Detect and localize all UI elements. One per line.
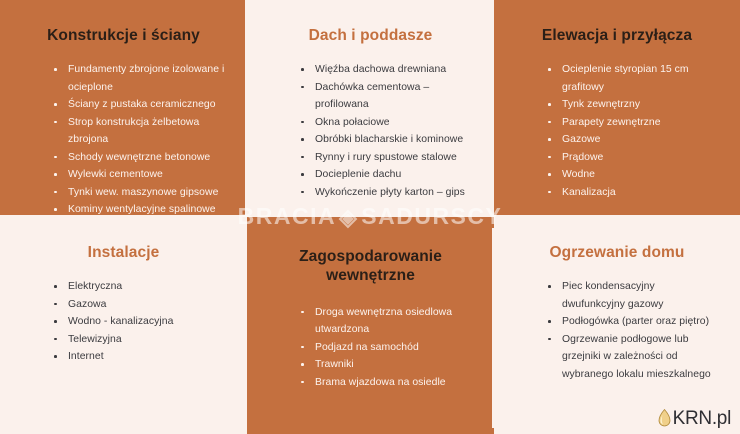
list-item: Telewizyjna xyxy=(52,331,225,348)
panel-title: Ogrzewanie domu xyxy=(516,217,718,262)
list-item: Wodne xyxy=(546,166,718,183)
list-item: Wykończenie płyty karton – gips xyxy=(299,184,472,201)
list-item: Rynny i rury spustowe stalowe xyxy=(299,149,472,166)
list-item: Podjazd na samochód xyxy=(299,339,472,356)
krn-logo[interactable]: KRN.pl xyxy=(658,409,731,428)
list-item: Gazowa xyxy=(52,296,225,313)
panel-seam xyxy=(245,228,247,428)
list-item: Gazowe xyxy=(546,131,718,148)
panel-title: Konstrukcje i ściany xyxy=(22,0,225,45)
list-item: Strop konstrukcja żelbetowa zbrojona xyxy=(52,114,225,149)
panel-title: Instalacje xyxy=(22,217,225,262)
panel-bullet-list: Fundamenty zbrojone izolowane i ocieplon… xyxy=(22,45,225,217)
list-item: Tynk zewnętrzny xyxy=(546,96,718,113)
list-item: Internet xyxy=(52,348,225,365)
drop-icon xyxy=(658,409,671,428)
panel-seam xyxy=(492,0,494,217)
panel-seam xyxy=(492,228,494,428)
list-item: Prądowe xyxy=(546,149,718,166)
list-item: Tynki wew. maszynowe gipsowe xyxy=(52,184,225,201)
panel-bullet-list: Elektryczna Gazowa Wodno - kanalizacyjna… xyxy=(22,262,225,365)
list-item: Brama wjazdowa na osiedle xyxy=(299,374,472,391)
panel-elewacja-i-przylacza: Elewacja i przyłącza Ocieplenie styropia… xyxy=(494,0,740,217)
panel-title: Zagospodarowanie wewnętrzne xyxy=(269,217,472,286)
panel-bullet-list: Ocieplenie styropian 15 cm grafitowy Tyn… xyxy=(516,45,718,201)
list-item: Podłogówka (parter oraz piętro) xyxy=(546,313,718,330)
panel-seam xyxy=(245,0,247,217)
list-item: Ocieplenie styropian 15 cm grafitowy xyxy=(546,61,718,96)
panel-dach-i-poddasze: Dach i poddasze Więźba dachowa drewniana… xyxy=(247,0,494,217)
panel-konstrukcje-i-sciany: Konstrukcje i ściany Fundamenty zbrojone… xyxy=(0,0,247,217)
panel-bullet-list: Piec kondensacyjny dwufunkcyjny gazowy P… xyxy=(516,262,718,383)
panel-instalacje: Instalacje Elektryczna Gazowa Wodno - ka… xyxy=(0,217,247,434)
list-item: Wodno - kanalizacyjna xyxy=(52,313,225,330)
panel-bullet-list: Więźba dachowa drewniana Dachówka cement… xyxy=(269,45,472,201)
list-item: Schody wewnętrzne betonowe xyxy=(52,149,225,166)
list-item: Elektryczna xyxy=(52,278,225,295)
list-item: Piec kondensacyjny dwufunkcyjny gazowy xyxy=(546,278,718,313)
list-item: Trawniki xyxy=(299,356,472,373)
krn-logo-text: KRN.pl xyxy=(673,409,731,428)
panel-seam xyxy=(0,215,247,218)
panel-title: Elewacja i przyłącza xyxy=(516,0,718,45)
list-item: Kanalizacja xyxy=(546,184,718,201)
list-item: Ściany z pustaka ceramicznego xyxy=(52,96,225,113)
list-item: Parapety zewnętrzne xyxy=(546,114,718,131)
list-item: Obróbki blacharskie i kominowe xyxy=(299,131,472,148)
list-item: Dachówka cementowa – profilowana xyxy=(299,79,472,114)
panel-title: Dach i poddasze xyxy=(269,0,472,45)
list-item: Fundamenty zbrojone izolowane i ocieplon… xyxy=(52,61,225,96)
panel-bullet-list: Droga wewnętrzna osiedlowa utwardzona Po… xyxy=(269,286,472,391)
list-item: Ogrzewanie podłogowe lub grzejniki w zal… xyxy=(546,331,718,383)
infographic-board: Konstrukcje i ściany Fundamenty zbrojone… xyxy=(0,0,740,434)
panel-seam xyxy=(494,215,740,218)
list-item: Docieplenie dachu xyxy=(299,166,472,183)
list-item: Więźba dachowa drewniana xyxy=(299,61,472,78)
panel-ogrzewanie-domu: Ogrzewanie domu Piec kondensacyjny dwufu… xyxy=(494,217,740,434)
list-item: Droga wewnętrzna osiedlowa utwardzona xyxy=(299,304,472,339)
panel-zagospodarowanie-wewnetrzne: Zagospodarowanie wewnętrzne Droga wewnęt… xyxy=(247,217,494,434)
list-item: Wylewki cementowe xyxy=(52,166,225,183)
list-item: Okna połaciowe xyxy=(299,114,472,131)
